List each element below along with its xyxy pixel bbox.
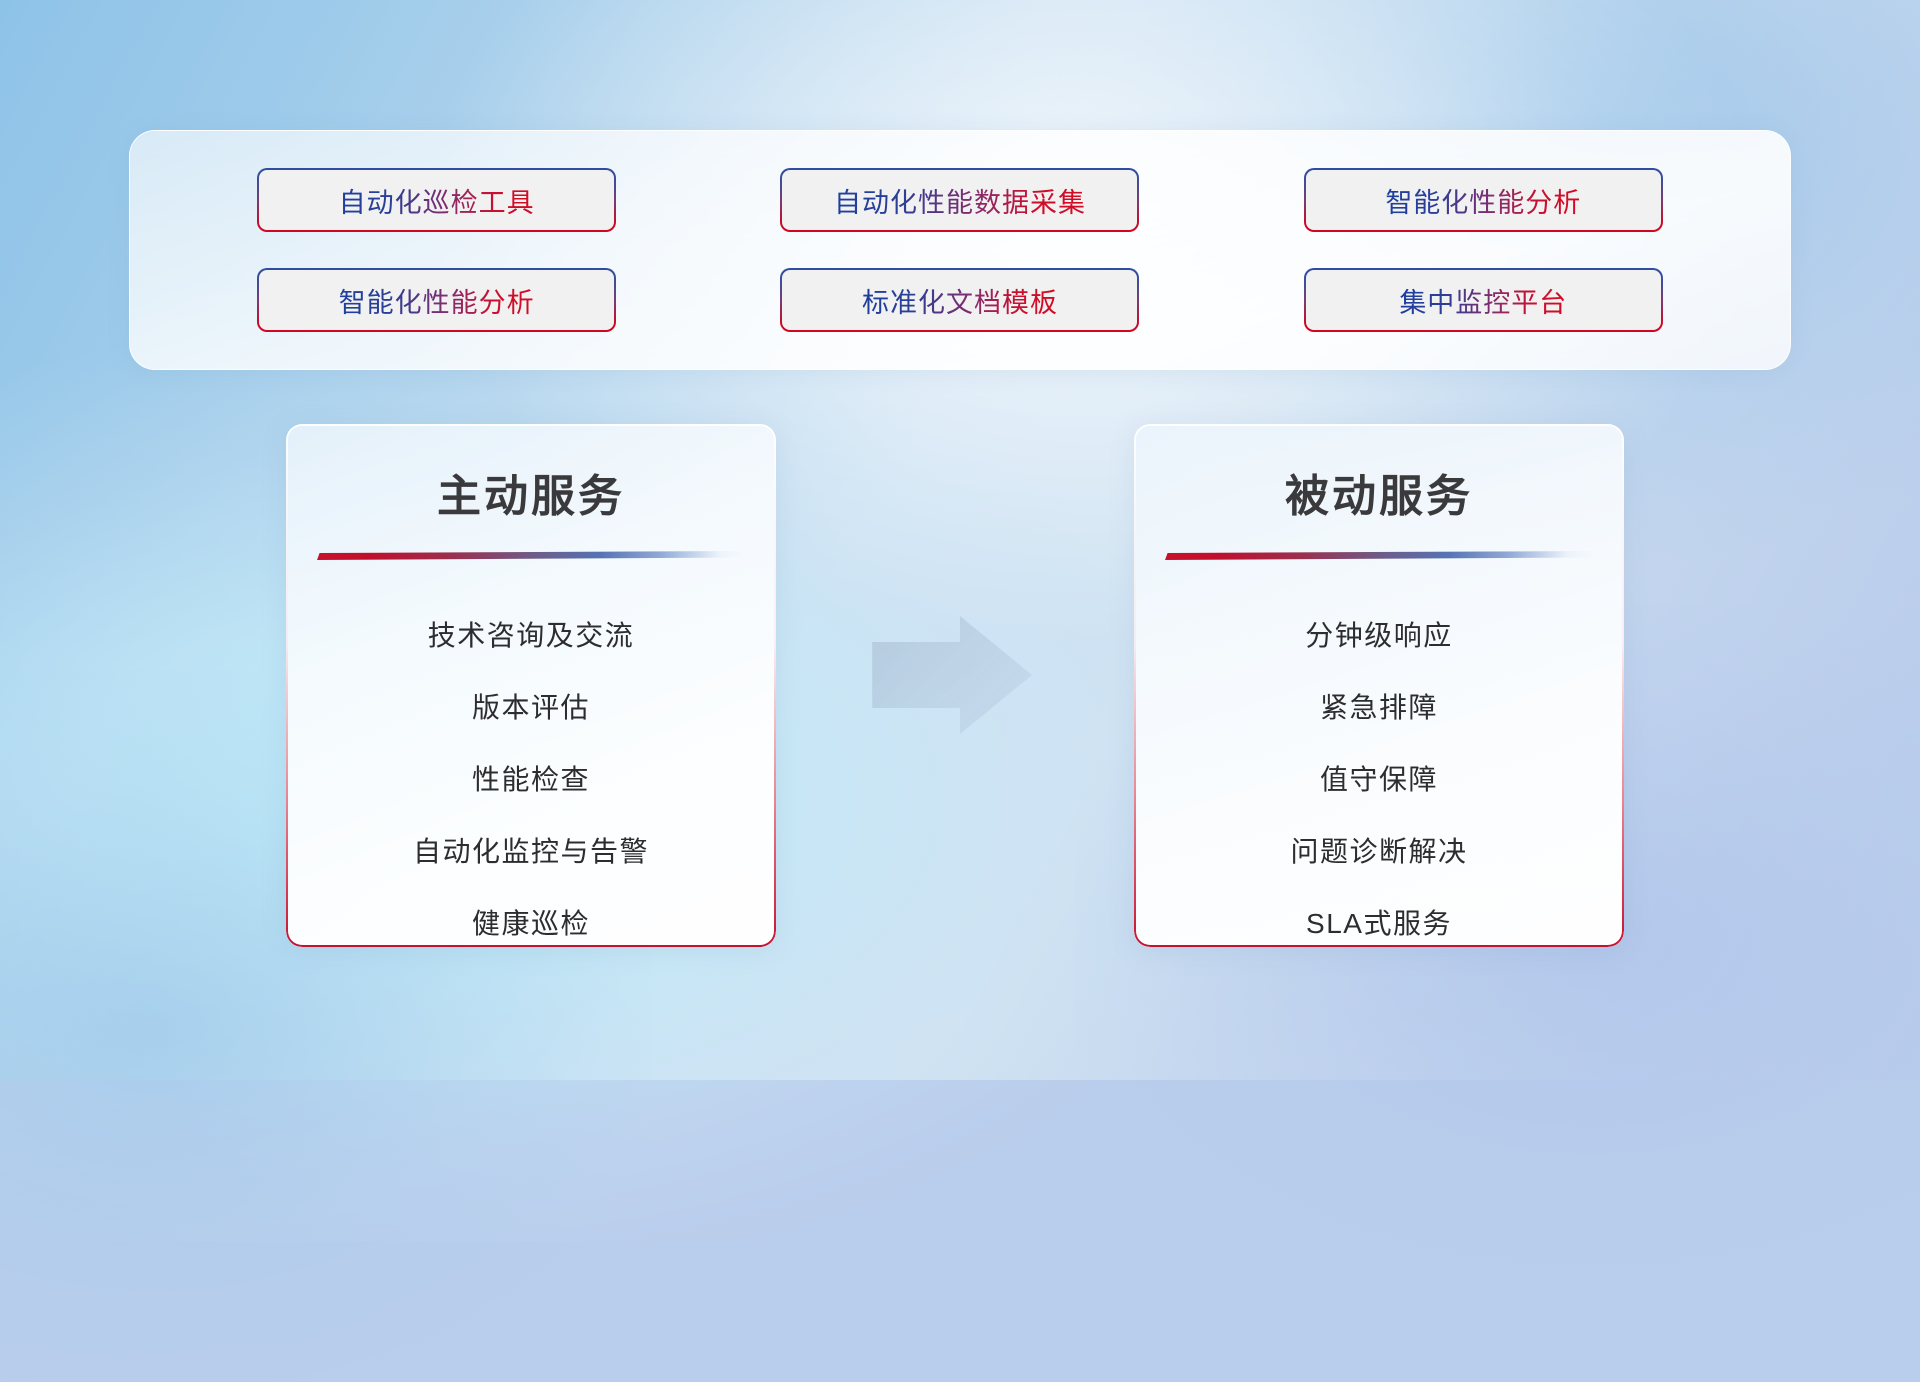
service-card-passive: 被动服务 分钟级响应 紧急排障 值守保障 问题诊断解决 SLA式服务 xyxy=(1134,424,1624,947)
list-item: 技术咨询及交流 xyxy=(428,600,635,672)
list-item: 值守保障 xyxy=(1320,744,1438,816)
capability-pill-label: 自动化性能数据采集 xyxy=(834,181,1086,220)
capability-pill-standardized-document-template[interactable]: 标准化文档模板 xyxy=(780,268,1139,332)
capability-pill-automated-inspection-tool[interactable]: 自动化巡检工具 xyxy=(257,168,616,232)
list-item: 分钟级响应 xyxy=(1305,600,1453,672)
card-divider-passive xyxy=(1165,551,1593,560)
capability-pill-automated-performance-data-collection[interactable]: 自动化性能数据采集 xyxy=(780,168,1139,232)
list-item: 版本评估 xyxy=(472,672,590,744)
capability-row-2: 智能化性能分析 标准化文档模板 集中监控平台 xyxy=(130,268,1790,332)
card-divider-active xyxy=(317,551,745,560)
card-list-passive: 分钟级响应 紧急排障 值守保障 问题诊断解决 SLA式服务 xyxy=(1134,600,1624,947)
capability-pill-label: 智能化性能分析 xyxy=(339,281,535,320)
list-item: 问题诊断解决 xyxy=(1290,816,1467,888)
capability-pill-intelligent-performance-analysis[interactable]: 智能化性能分析 xyxy=(257,268,616,332)
list-item: 健康巡检 xyxy=(472,888,590,947)
capability-pill-label: 智能化性能分析 xyxy=(1385,181,1581,220)
capability-panel: 自动化巡检工具 自动化性能数据采集 智能化性能分析 智能化性能分析 标准化文档模… xyxy=(129,130,1791,370)
capability-pill-label: 标准化文档模板 xyxy=(862,281,1058,320)
capability-pill-centralized-monitoring-platform[interactable]: 集中监控平台 xyxy=(1304,268,1663,332)
card-list-active: 技术咨询及交流 版本评估 性能检查 自动化监控与告警 健康巡检 xyxy=(286,600,776,947)
list-item: 自动化监控与告警 xyxy=(413,816,649,888)
service-card-active: 主动服务 技术咨询及交流 版本评估 性能检查 自动化监控与告警 健康巡检 xyxy=(286,424,776,947)
capability-pill-intelligent-performance-analysis-top[interactable]: 智能化性能分析 xyxy=(1304,168,1663,232)
capability-pill-label: 集中监控平台 xyxy=(1399,281,1567,320)
capability-pill-label: 自动化巡检工具 xyxy=(339,181,535,220)
card-title-active: 主动服务 xyxy=(286,460,776,524)
list-item: 紧急排障 xyxy=(1320,672,1438,744)
capability-row-1: 自动化巡检工具 自动化性能数据采集 智能化性能分析 xyxy=(130,168,1790,232)
list-item: SLA式服务 xyxy=(1306,888,1452,947)
card-title-passive: 被动服务 xyxy=(1134,460,1624,524)
list-item: 性能检查 xyxy=(472,744,590,816)
